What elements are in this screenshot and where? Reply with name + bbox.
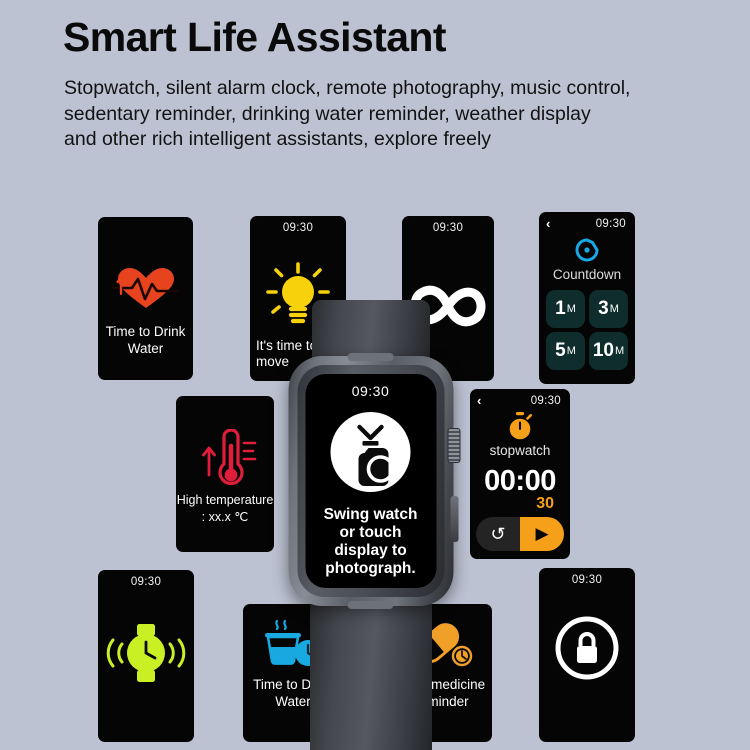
tile-drink-water-heart[interactable]: Time to Drink Water: [98, 217, 193, 380]
preset-button[interactable]: 3M: [589, 290, 628, 328]
status-time: 09:30: [539, 218, 635, 230]
subtitle-line-1: Stopwatch, silent alarm clock, remote ph…: [64, 76, 714, 102]
watch-screen[interactable]: 09:30 Swing watch or touch display to ph…: [305, 374, 436, 588]
subtitle-line-2: sedentary reminder, drinking water remin…: [64, 102, 714, 128]
status-time: 09:30: [250, 222, 346, 234]
stopwatch-elapsed: 00:00: [470, 465, 570, 498]
tile-caption: High temperature : xx.x ℃: [176, 492, 274, 526]
stopwatch-label: stopwatch: [470, 443, 570, 458]
tile-high-temperature[interactable]: High temperature : xx.x ℃: [176, 396, 274, 552]
preset-button[interactable]: 1M: [546, 290, 585, 328]
watch-lug-top: [348, 353, 394, 361]
page-subtitle: Stopwatch, silent alarm clock, remote ph…: [64, 76, 714, 153]
preset-button[interactable]: 5M: [546, 332, 585, 370]
vibrating-watch-icon: [98, 622, 194, 684]
countdown-label: Countdown: [539, 267, 635, 282]
lock-circle-icon: [539, 615, 635, 681]
tile-screen-lock[interactable]: 09:30: [539, 568, 635, 742]
thermometer-high-icon: [176, 429, 274, 491]
smartwatch-device: 09:30 Swing watch or touch display to ph…: [283, 300, 458, 750]
stopwatch-hundredths: 30: [536, 495, 554, 513]
tile-silent-alarm[interactable]: 09:30: [98, 570, 194, 742]
countdown-preset-grid: 1M 3M 5M 10M: [546, 290, 628, 370]
heart-pulse-icon: [98, 264, 193, 312]
camera-shutter-icon: [305, 410, 436, 494]
tile-countdown[interactable]: ‹ 09:30 Countdown 1M 3M 5M 10M: [539, 212, 635, 384]
watch-strap-bottom: [310, 600, 432, 750]
status-time: 09:30: [470, 395, 570, 407]
status-time: 09:30: [402, 222, 494, 234]
watch-case: 09:30 Swing watch or touch display to ph…: [288, 356, 453, 606]
watch-crown[interactable]: [447, 428, 460, 463]
watch-side-button[interactable]: [450, 496, 458, 542]
stopwatch-icon: [470, 411, 570, 441]
poster-canvas: Smart Life Assistant Stopwatch, silent a…: [0, 0, 750, 750]
stopwatch-controls: ↺ ▶: [476, 517, 564, 551]
subtitle-line-3: and other rich intelligent assistants, e…: [64, 127, 714, 153]
preset-button[interactable]: 10M: [589, 332, 628, 370]
camera-instruction-caption: Swing watch or touch display to photogra…: [305, 506, 436, 578]
watch-lug-bottom: [348, 601, 394, 609]
countdown-timer-icon: [539, 236, 635, 264]
status-time: 09:30: [305, 383, 436, 399]
status-time: 09:30: [539, 574, 635, 586]
status-time: 09:30: [98, 576, 194, 588]
page-title: Smart Life Assistant: [63, 14, 446, 61]
play-button[interactable]: ▶: [520, 517, 564, 551]
tile-caption: Time to Drink Water: [98, 323, 193, 357]
tile-stopwatch[interactable]: ‹ 09:30 stopwatch 00:00 30 ↺ ▶: [470, 389, 570, 559]
reset-button[interactable]: ↺: [476, 517, 520, 551]
